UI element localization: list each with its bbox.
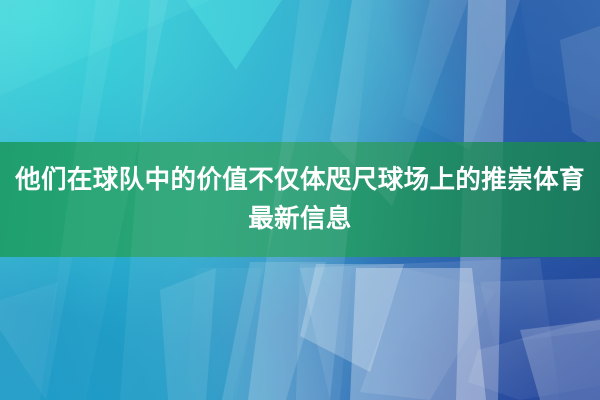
- promo-banner: 他们在球队中的价值不仅体咫尺球场上的推崇体育 最新信息: [0, 0, 600, 400]
- headline-line-2: 最新信息: [248, 201, 352, 237]
- headline-line-1: 他们在球队中的价值不仅体咫尺球场上的推崇体育: [15, 162, 585, 198]
- headline-band: 他们在球队中的价值不仅体咫尺球场上的推崇体育 最新信息: [0, 142, 600, 257]
- headline-text-block: 他们在球队中的价值不仅体咫尺球场上的推崇体育 最新信息: [0, 142, 600, 257]
